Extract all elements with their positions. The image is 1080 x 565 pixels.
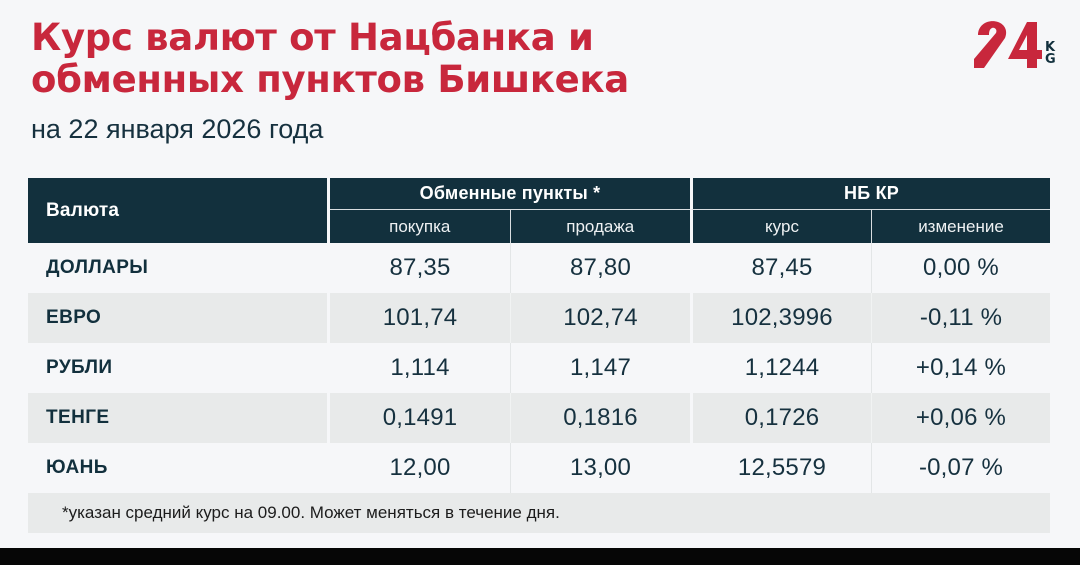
- page-title-line-2: обменных пунктов Бишкека: [31, 59, 851, 101]
- cell-buy: 1,114: [330, 343, 510, 393]
- table-row: ТЕНГЕ0,14910,18160,1726+0,06 %: [28, 393, 1050, 443]
- table-row: РУБЛИ1,1141,1471,1244+0,14 %: [28, 343, 1050, 393]
- cell-group-values: 1,1141,1471,1244+0,14 %: [330, 343, 1050, 393]
- cell-change: +0,14 %: [871, 343, 1050, 393]
- group-header-exchange-offices: Обменные пункты *: [330, 178, 690, 210]
- cell-currency-name: ЮАНЬ: [28, 443, 330, 493]
- cell-group-values: 87,3587,8087,450,00 %: [330, 243, 1050, 293]
- cell-rate: 12,5579: [690, 443, 871, 493]
- table-footnote: *указан средний курс на 09.00. Может мен…: [28, 493, 1050, 533]
- cell-rate: 0,1726: [690, 393, 871, 443]
- header: Курс валют от Нацбанка и обменных пункто…: [0, 0, 1080, 170]
- cell-sell: 1,147: [510, 343, 690, 393]
- brand-logo-24kg[interactable]: K G: [972, 18, 1058, 76]
- column-header-currency: Валюта: [28, 178, 330, 243]
- cell-change: -0,11 %: [871, 293, 1050, 343]
- table-header-row: Валюта Обменные пункты * покупка продажа…: [28, 178, 1050, 243]
- group-header-national-bank: НБ КР: [690, 178, 1050, 210]
- cell-buy: 12,00: [330, 443, 510, 493]
- page-subtitle-date: на 22 января 2026 года: [31, 114, 323, 145]
- cell-group-values: 101,74102,74102,3996-0,11 %: [330, 293, 1050, 343]
- page-title-line-1: Курс валют от Нацбанка и: [31, 17, 851, 59]
- cell-rate: 102,3996: [690, 293, 871, 343]
- svg-text:G: G: [1045, 52, 1056, 67]
- cell-rate: 87,45: [690, 243, 871, 293]
- cell-sell: 102,74: [510, 293, 690, 343]
- currency-rates-infographic: Курс валют от Нацбанка и обменных пункто…: [0, 0, 1080, 565]
- group-national-bank: НБ КР курс изменение: [690, 178, 1050, 243]
- column-header-buy: покупка: [330, 210, 510, 243]
- cell-currency-name: ТЕНГЕ: [28, 393, 330, 443]
- table-row: ЕВРО101,74102,74102,3996-0,11 %: [28, 293, 1050, 343]
- cell-buy: 0,1491: [330, 393, 510, 443]
- column-header-groups: Обменные пункты * покупка продажа НБ КР …: [330, 178, 1050, 243]
- cell-group-values: 12,0013,0012,5579-0,07 %: [330, 443, 1050, 493]
- cell-group-values: 0,14910,18160,1726+0,06 %: [330, 393, 1050, 443]
- cell-sell: 13,00: [510, 443, 690, 493]
- subheaders-exchange: покупка продажа: [330, 210, 690, 243]
- subheaders-nbkr: курс изменение: [690, 210, 1050, 243]
- table-row: ДОЛЛАРЫ87,3587,8087,450,00 %: [28, 243, 1050, 293]
- bottom-bar: [0, 548, 1080, 565]
- column-header-change: изменение: [871, 210, 1050, 243]
- cell-currency-name: ЕВРО: [28, 293, 330, 343]
- logo-icon: K G: [972, 18, 1058, 76]
- cell-buy: 87,35: [330, 243, 510, 293]
- cell-change: +0,06 %: [871, 393, 1050, 443]
- cell-sell: 0,1816: [510, 393, 690, 443]
- cell-change: -0,07 %: [871, 443, 1050, 493]
- rates-table: Валюта Обменные пункты * покупка продажа…: [28, 178, 1050, 533]
- cell-change: 0,00 %: [871, 243, 1050, 293]
- table-body: ДОЛЛАРЫ87,3587,8087,450,00 %ЕВРО101,7410…: [28, 243, 1050, 493]
- page-title: Курс валют от Нацбанка и обменных пункто…: [31, 17, 851, 101]
- group-exchange-offices: Обменные пункты * покупка продажа: [330, 178, 690, 243]
- column-header-rate: курс: [693, 210, 871, 243]
- table-row: ЮАНЬ12,0013,0012,5579-0,07 %: [28, 443, 1050, 493]
- cell-currency-name: РУБЛИ: [28, 343, 330, 393]
- column-header-sell: продажа: [510, 210, 691, 243]
- cell-sell: 87,80: [510, 243, 690, 293]
- cell-currency-name: ДОЛЛАРЫ: [28, 243, 330, 293]
- cell-buy: 101,74: [330, 293, 510, 343]
- cell-rate: 1,1244: [690, 343, 871, 393]
